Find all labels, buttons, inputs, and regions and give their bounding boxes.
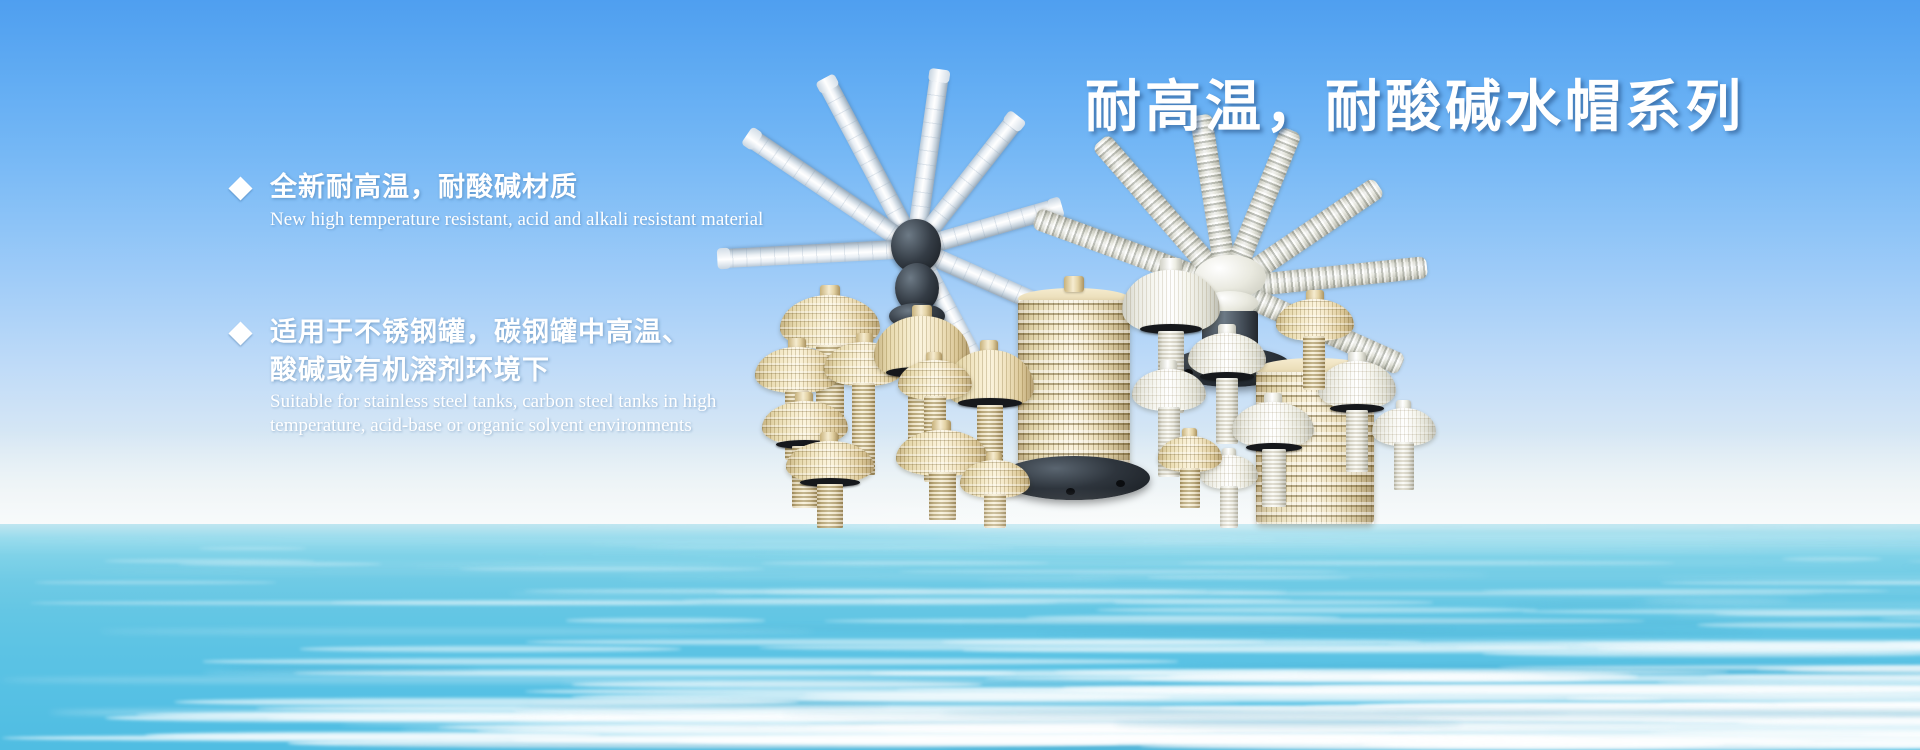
cap-dome xyxy=(1276,299,1354,341)
diamond-marker-icon xyxy=(228,321,252,345)
feature-bullet-2-cn-line-2: 酸碱或有机溶剂环境下 xyxy=(270,351,690,389)
strainer-arm xyxy=(720,239,916,268)
feature-bullet-1-cn: 全新耐高温，耐酸碱材质 xyxy=(270,168,578,206)
filter-top-knob xyxy=(1064,276,1084,292)
radial-arm-strainer-right xyxy=(1228,285,1238,295)
radial-arm-strainer-left xyxy=(915,245,925,255)
feature-bullet-2-en-line-2: temperature, acid-base or organic solven… xyxy=(270,415,716,437)
feature-bullet-1: 全新耐高温，耐酸碱材质 New high temperature resista… xyxy=(232,168,763,231)
cap-stem xyxy=(1346,410,1368,472)
filter-body xyxy=(1018,300,1130,468)
feature-bullet-2: 适用于不锈钢罐，碳钢罐中高温、 酸碱或有机溶剂环境下 Suitable for … xyxy=(232,313,716,437)
cap-stem xyxy=(1303,336,1325,390)
product-banner: 耐高温，耐酸碱水帽系列 全新耐高温，耐酸碱材质 New high tempera… xyxy=(0,0,1920,750)
feature-bullet-2-en-line-1: Suitable for stainless steel tanks, carb… xyxy=(270,391,716,413)
feature-bullet-2-cn-line-1: 适用于不锈钢罐，碳钢罐中高温、 xyxy=(270,313,690,351)
cap-stem xyxy=(1394,442,1414,490)
page-title: 耐高温，耐酸碱水帽系列 xyxy=(1085,62,1745,143)
diamond-marker-icon xyxy=(228,176,252,200)
product-water-reflection xyxy=(760,488,1460,548)
cap-dome xyxy=(1372,408,1436,446)
feature-bullet-1-en-line-1: New high temperature resistant, acid and… xyxy=(270,209,763,231)
cap-dome xyxy=(1158,436,1222,472)
